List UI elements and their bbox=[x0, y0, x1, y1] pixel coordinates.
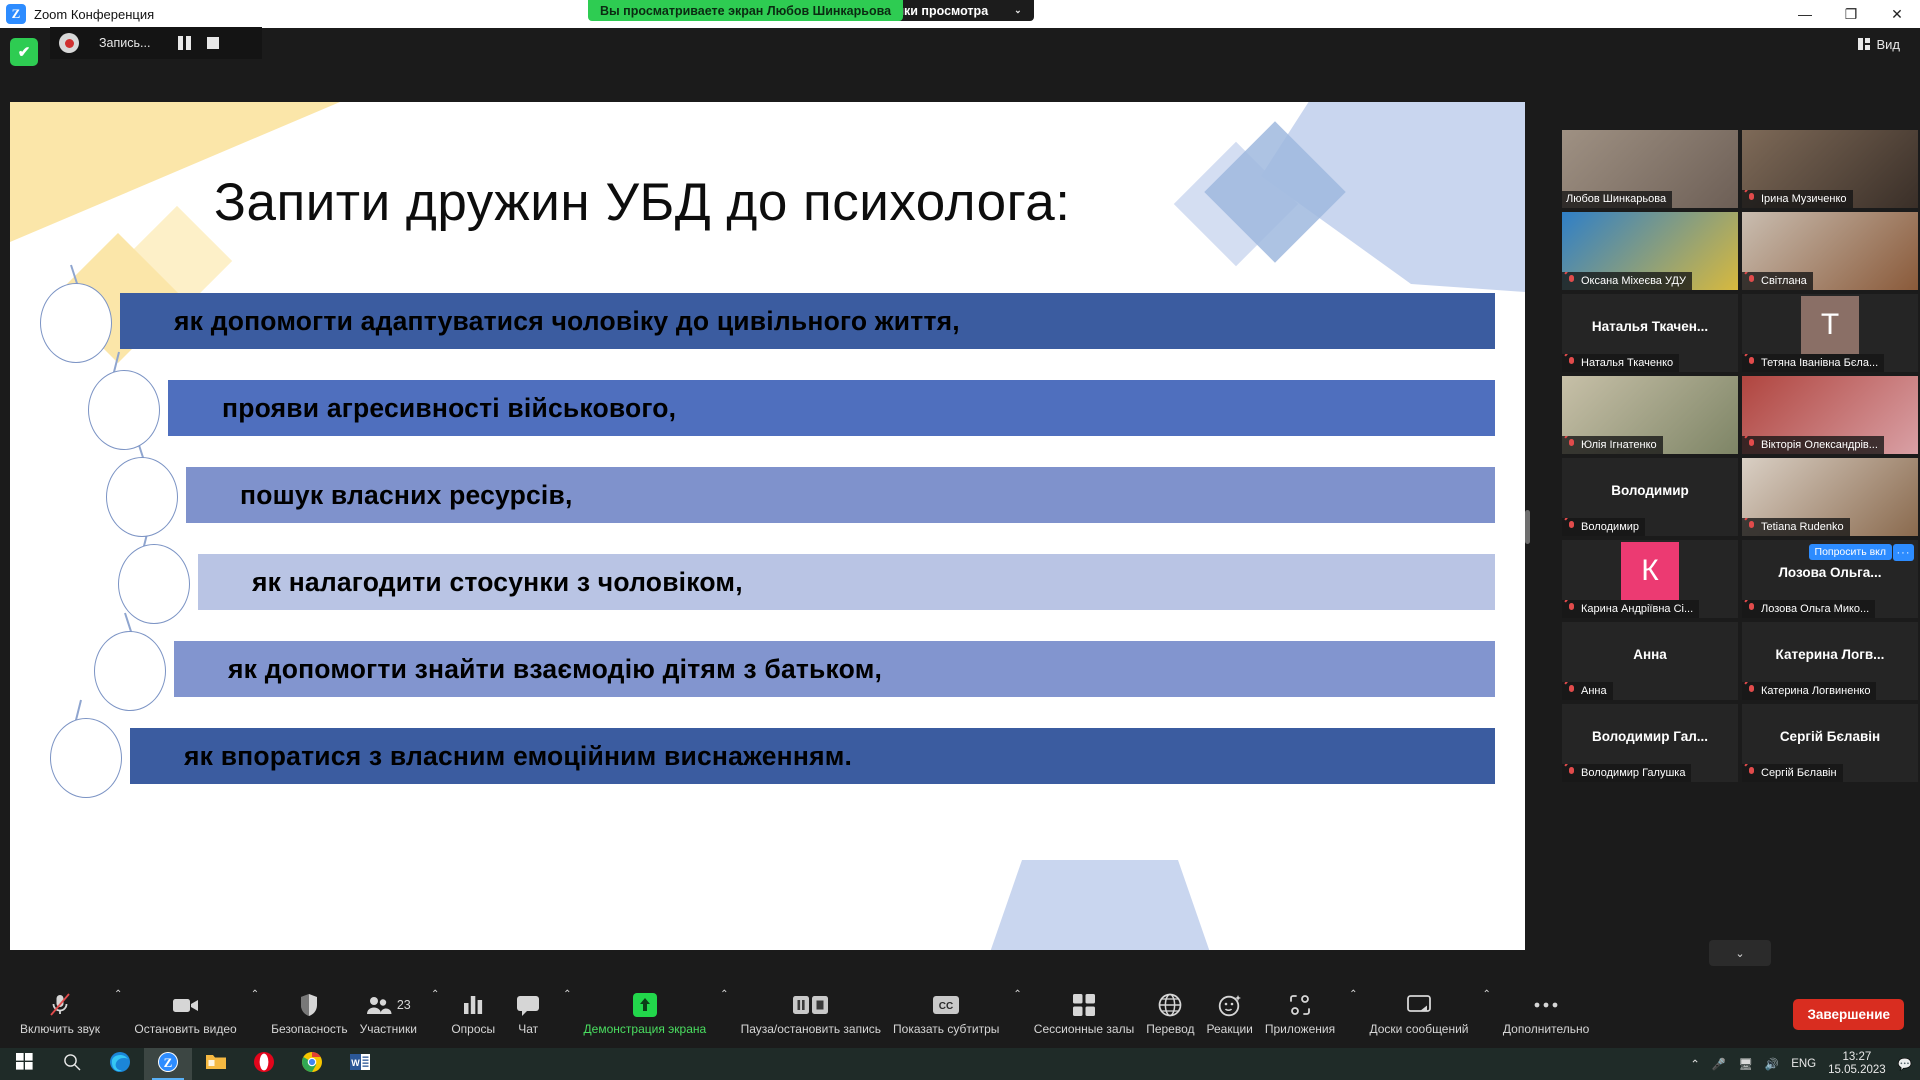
participant-name-text: Вікторія Олександрів... bbox=[1761, 439, 1878, 451]
participant-name-text: Ірина Музиченко bbox=[1761, 193, 1847, 205]
toolbar-item-group: Приложения⌃ bbox=[1259, 983, 1364, 1045]
participant-tile[interactable]: Сергій БєлавінСергій Бєлавін bbox=[1742, 704, 1918, 782]
whiteboard-icon bbox=[1407, 992, 1431, 1018]
participant-name-badge: Світлана bbox=[1742, 272, 1813, 290]
participant-name-text: Тетяна Іванівна Бєла... bbox=[1761, 357, 1878, 369]
participant-count-badge: 23 bbox=[397, 998, 411, 1012]
toolbar-button-label: Реакции bbox=[1207, 1022, 1253, 1036]
mic-muted-icon bbox=[1746, 356, 1757, 369]
view-button[interactable]: Вид bbox=[1850, 32, 1908, 56]
mic-muted-icon bbox=[1566, 356, 1577, 369]
svg-text:Z: Z bbox=[164, 1055, 173, 1070]
ask-to-unmute-button[interactable]: Попросить вкл bbox=[1809, 544, 1892, 560]
toolbar-button-label: Пауза/остановить запись bbox=[741, 1022, 881, 1036]
opera-icon bbox=[253, 1051, 275, 1078]
participant-name-badge: Сергій Бєлавін bbox=[1742, 764, 1843, 782]
toolbar-caret-icon[interactable]: ⌃ bbox=[1477, 989, 1497, 1000]
decor-blue-bottom bbox=[970, 860, 1230, 950]
participant-name-badge: Наталья Ткаченко bbox=[1562, 354, 1679, 372]
participant-name-badge: Володимир bbox=[1562, 518, 1645, 536]
toolbar-button-mic-muted[interactable]: Включить звук bbox=[14, 983, 106, 1045]
toolbar-item-group: Безопасность bbox=[265, 983, 354, 1045]
opera-button[interactable] bbox=[240, 1048, 288, 1080]
cc-icon: CC bbox=[932, 992, 960, 1018]
poll-bars-icon bbox=[462, 992, 484, 1018]
participants-panel: Любов ШинкарьоваІрина МузиченкоОксана Мі… bbox=[1560, 82, 1920, 980]
toolbar-caret-icon[interactable]: ⌃ bbox=[108, 989, 128, 1000]
participant-name-badge: Володимир Галушка bbox=[1562, 764, 1691, 782]
participant-tile[interactable]: Tetiana Rudenko bbox=[1742, 458, 1918, 536]
breakout-rooms-icon bbox=[1072, 992, 1096, 1018]
participant-tile[interactable]: Любов Шинкарьова bbox=[1562, 130, 1738, 208]
mic-muted-icon bbox=[1746, 766, 1757, 779]
toolbar-button-globe[interactable]: Перевод bbox=[1140, 983, 1200, 1045]
clock-time: 13:27 bbox=[1828, 1051, 1886, 1064]
record-dot-icon bbox=[59, 33, 79, 53]
participant-name-badge: Катерина Логвиненко bbox=[1742, 682, 1876, 700]
participant-name-badge: Анна bbox=[1562, 682, 1613, 700]
toolbar-button-shield[interactable]: Безопасность bbox=[265, 983, 354, 1045]
toolbar-item-group: Реакции bbox=[1201, 983, 1259, 1045]
participant-tile[interactable]: Оксана Міхеєва УДУ bbox=[1562, 212, 1738, 290]
toolbar-button-ellipsis[interactable]: Дополнительно bbox=[1497, 983, 1595, 1045]
chat-bubble-icon bbox=[516, 992, 540, 1018]
participant-name-text: Tetiana Rudenko bbox=[1761, 521, 1844, 533]
mic-muted-icon bbox=[1746, 520, 1757, 533]
slide-bullet-row: пошук власних ресурсів, bbox=[10, 461, 1525, 548]
participant-tile[interactable]: Світлана bbox=[1742, 212, 1918, 290]
toolbar-button-label: Чат bbox=[518, 1022, 538, 1036]
participant-name-text: Лозова Ольга Мико... bbox=[1761, 603, 1869, 615]
svg-text:CC: CC bbox=[939, 1001, 953, 1012]
participant-tile[interactable]: Вікторія Олександрів... bbox=[1742, 376, 1918, 454]
toolbar-button-label: Сессионные залы bbox=[1034, 1022, 1134, 1036]
word-button[interactable]: W bbox=[336, 1048, 384, 1080]
participant-name-text: Оксана Міхеєва УДУ bbox=[1581, 275, 1686, 287]
minimize-button[interactable]: — bbox=[1782, 0, 1828, 28]
word-icon: W bbox=[350, 1052, 370, 1077]
toolbar-button-chat-bubble[interactable]: Чат bbox=[501, 983, 555, 1045]
bullet-circle bbox=[50, 718, 122, 798]
toolbar-button-whiteboard[interactable]: Доски сообщений bbox=[1363, 983, 1474, 1045]
participant-name-text: Володимир Галушка bbox=[1581, 767, 1685, 779]
participant-tile[interactable]: Юлія Ігнатенко bbox=[1562, 376, 1738, 454]
mic-muted-icon bbox=[1566, 766, 1577, 779]
edge-button[interactable] bbox=[96, 1048, 144, 1080]
participant-name-text: Анна bbox=[1581, 685, 1607, 697]
toolbar-button-label: Остановить видео bbox=[134, 1022, 236, 1036]
toolbar-button-poll-bars[interactable]: Опросы bbox=[445, 983, 501, 1045]
chrome-button[interactable] bbox=[288, 1048, 336, 1080]
participant-tile[interactable]: ВолодимирВолодимир bbox=[1562, 458, 1738, 536]
slide-bullet-text: як допомогти адаптуватися чоловіку до ци… bbox=[174, 306, 960, 337]
participant-name-badge: Лозова Ольга Мико... bbox=[1742, 600, 1875, 618]
slide-bullet-text: прояви агресивності військового, bbox=[222, 393, 676, 424]
system-tray: ⌃ 🎤 🖥 🔊 ENG 13:27 15.05.2023 💬 bbox=[1690, 1051, 1920, 1077]
meeting-toolbar: Включить звук⌃Остановить видео⌃Безопасно… bbox=[0, 980, 1920, 1048]
toolbar-caret-icon[interactable]: ⌃ bbox=[425, 989, 445, 1000]
search-button[interactable] bbox=[48, 1048, 96, 1080]
bullet-circle bbox=[118, 544, 190, 624]
participant-name-text: Юлія Ігнатенко bbox=[1581, 439, 1657, 451]
mic-muted-icon bbox=[1746, 274, 1757, 287]
participant-tile[interactable]: ККарина Андріївна Сі... bbox=[1562, 540, 1738, 618]
toolbar-item-group: CCПоказать субтитры⌃ bbox=[887, 983, 1028, 1045]
toolbar-item-group: Сессионные залы bbox=[1028, 983, 1140, 1045]
clock-date: 15.05.2023 bbox=[1828, 1064, 1886, 1077]
start-button[interactable] bbox=[0, 1048, 48, 1080]
participant-name-text: Світлана bbox=[1761, 275, 1807, 287]
toolbar-item-group: Чат⌃ bbox=[501, 983, 577, 1045]
view-button-label: Вид bbox=[1876, 37, 1900, 52]
participant-name-badge: Карина Андріївна Сі... bbox=[1562, 600, 1699, 618]
mic-muted-icon bbox=[49, 992, 71, 1018]
bullet-circle bbox=[94, 631, 166, 711]
panel-drag-handle[interactable] bbox=[1525, 510, 1530, 544]
people-icon: 23 bbox=[366, 992, 411, 1018]
slide-bullet-text: як налагодити стосунки з чоловіком, bbox=[252, 567, 743, 598]
slide-bullet-row: як налагодити стосунки з чоловіком, bbox=[10, 548, 1525, 635]
toolbar-item-group: Опросы bbox=[445, 983, 501, 1045]
mic-muted-icon bbox=[1566, 602, 1577, 615]
mic-muted-icon bbox=[1566, 520, 1577, 533]
toolbar-button-label: Доски сообщений bbox=[1369, 1022, 1468, 1036]
window-title: Zoom Конференция bbox=[34, 7, 154, 22]
microphone-icon[interactable]: 🎤 bbox=[1712, 1057, 1726, 1071]
mic-muted-icon bbox=[1566, 274, 1577, 287]
toolbar-caret-icon[interactable]: ⌃ bbox=[1007, 989, 1027, 1000]
globe-icon bbox=[1158, 992, 1182, 1018]
bullet-circle bbox=[106, 457, 178, 537]
slide-bullet-text: пошук власних ресурсів, bbox=[240, 480, 573, 511]
toolbar-button-label: Участники bbox=[360, 1022, 417, 1036]
panel-scroll-down-button[interactable]: ⌄ bbox=[1709, 940, 1771, 966]
bullet-circle bbox=[40, 283, 112, 363]
avatar: T bbox=[1801, 296, 1859, 354]
recording-indicator: Запись... bbox=[50, 27, 262, 59]
participant-name-badge: Оксана Міхеєва УДУ bbox=[1562, 272, 1692, 290]
slide-bullet-row: як допомогти адаптуватися чоловіку до ци… bbox=[10, 287, 1525, 374]
avatar: К bbox=[1621, 542, 1679, 600]
toolbar-button-people[interactable]: 23Участники bbox=[354, 983, 423, 1045]
slide-bullet-bar: як впоратися з власним емоційним виснаже… bbox=[130, 728, 1495, 784]
maximize-button[interactable]: ❐ bbox=[1828, 0, 1874, 28]
toolbar-button-label: Включить звук bbox=[20, 1022, 100, 1036]
toolbar-button-label: Показать субтитры bbox=[893, 1022, 999, 1036]
toolbar-button-label: Приложения bbox=[1265, 1022, 1335, 1036]
mic-muted-icon bbox=[1566, 684, 1577, 697]
participant-name-badge: Ірина Музиченко bbox=[1742, 190, 1853, 208]
toolbar-button-camera[interactable]: Остановить видео bbox=[128, 983, 242, 1045]
toolbar-button-cc[interactable]: CCПоказать субтитры bbox=[887, 983, 1005, 1045]
slide-bullet-row: прояви агресивності військового, bbox=[10, 374, 1525, 461]
toolbar-button-share-screen-arrow[interactable]: Демонстрация экрана bbox=[578, 983, 713, 1045]
view-grid-icon bbox=[1858, 38, 1870, 50]
tile-more-button[interactable]: ··· bbox=[1893, 544, 1914, 561]
toolbar-button-label: Безопасность bbox=[271, 1022, 348, 1036]
svg-text:W: W bbox=[351, 1058, 360, 1068]
language-indicator[interactable]: ENG bbox=[1791, 1058, 1816, 1070]
slide-bullet-text: як допомогти знайти взаємодію дітям з ба… bbox=[228, 654, 882, 685]
participant-name-text: Володимир bbox=[1581, 521, 1639, 533]
toolbar-button-label: Перевод bbox=[1146, 1022, 1194, 1036]
pause-recording-icon[interactable] bbox=[178, 36, 191, 50]
toolbar-item-group: Включить звук⌃ bbox=[14, 983, 128, 1045]
explorer-button[interactable] bbox=[192, 1048, 240, 1080]
participant-tile[interactable]: Володимир Гал...Володимир Галушка bbox=[1562, 704, 1738, 782]
toolbar-item-group: Перевод bbox=[1140, 983, 1200, 1045]
participant-name-badge: Любов Шинкарьова bbox=[1562, 191, 1672, 208]
slide-bullet-row: як допомогти знайти взаємодію дітям з ба… bbox=[10, 635, 1525, 722]
pause-stop-icon bbox=[792, 992, 830, 1018]
toolbar-button-apps[interactable]: Приложения bbox=[1259, 983, 1341, 1045]
toolbar-button-pause-stop[interactable]: Пауза/остановить запись bbox=[735, 983, 887, 1045]
chrome-icon bbox=[301, 1051, 323, 1078]
chevron-down-icon: ⌄ bbox=[1014, 5, 1022, 16]
security-shield-icon: ✔ bbox=[10, 38, 38, 66]
toolbar-button-smiley-reaction[interactable]: Реакции bbox=[1201, 983, 1259, 1045]
participant-tile[interactable]: Ірина Музиченко bbox=[1742, 130, 1918, 208]
ellipsis-icon bbox=[1532, 992, 1560, 1018]
zoom-button[interactable]: Z bbox=[144, 1048, 192, 1080]
slide-title: Запити дружин УБД до психолога: bbox=[214, 172, 1070, 233]
toolbar-item-group: Демонстрация экрана⌃ bbox=[578, 983, 735, 1045]
stop-recording-icon[interactable] bbox=[207, 37, 219, 49]
slide-bullet-text: як впоратися з власним емоційним виснаже… bbox=[184, 741, 852, 772]
toolbar-item-group: Доски сообщений⌃ bbox=[1363, 983, 1496, 1045]
participant-tile[interactable]: Лозова Ольга...Попросить вкл···Лозова Ол… bbox=[1742, 540, 1918, 618]
meeting-top-strip bbox=[0, 28, 1920, 82]
windows-taskbar: ZW ⌃ 🎤 🖥 🔊 ENG 13:27 15.05.2023 💬 bbox=[0, 1048, 1920, 1080]
end-meeting-button[interactable]: Завершение bbox=[1793, 999, 1904, 1030]
toolbar-item-group: Остановить видео⌃ bbox=[128, 983, 265, 1045]
participant-name-text: Наталья Ткаченко bbox=[1581, 357, 1673, 369]
action-center-icon[interactable]: 💬 bbox=[1898, 1057, 1912, 1071]
slide-bullet-bar: як допомогти адаптуватися чоловіку до ци… bbox=[120, 293, 1495, 349]
windows-logo-icon bbox=[16, 1053, 33, 1075]
edge-icon bbox=[109, 1051, 131, 1078]
slide-bullet-bar: як допомогти знайти взаємодію дітям з ба… bbox=[174, 641, 1495, 697]
bullet-circle bbox=[88, 370, 160, 450]
zoom-logo-icon: Z bbox=[6, 4, 26, 24]
slide-bullet-row: як впоратися з власним емоційним виснаже… bbox=[10, 722, 1525, 809]
mic-muted-icon bbox=[1746, 438, 1757, 451]
folder-icon bbox=[205, 1052, 227, 1076]
zoom-meeting-window: Z Zoom Конференция — ❐ ✕ Вы просматривае… bbox=[0, 0, 1920, 1080]
toolbar-button-label: Опросы bbox=[451, 1022, 495, 1036]
shield-icon bbox=[299, 992, 319, 1018]
slide-bullet-list: як допомогти адаптуватися чоловіку до ци… bbox=[10, 287, 1525, 809]
tray-chevron-icon[interactable]: ⌃ bbox=[1690, 1057, 1700, 1071]
toolbar-button-breakout-rooms[interactable]: Сессионные залы bbox=[1028, 983, 1140, 1045]
participant-name-text: Любов Шинкарьова bbox=[1566, 193, 1666, 205]
slide-bullet-bar: як налагодити стосунки з чоловіком, bbox=[198, 554, 1495, 610]
participant-tile[interactable]: TТетяна Іванівна Бєла... bbox=[1742, 294, 1918, 372]
apps-icon bbox=[1288, 992, 1312, 1018]
toolbar-caret-icon[interactable]: ⌃ bbox=[245, 989, 265, 1000]
smiley-reaction-icon bbox=[1218, 992, 1242, 1018]
close-button[interactable]: ✕ bbox=[1874, 0, 1920, 28]
presentation-slide: Запити дружин УБД до психолога: як допом… bbox=[10, 102, 1525, 950]
mic-muted-icon bbox=[1746, 192, 1757, 205]
zoom-icon: Z bbox=[157, 1051, 179, 1078]
recording-label: Запись... bbox=[99, 36, 150, 50]
screen-share-banner: Вы просматриваете экран Любов Шинкарьова bbox=[588, 0, 903, 21]
slide-bullet-bar: пошук власних ресурсів, bbox=[186, 467, 1495, 523]
network-icon[interactable]: 🖥 bbox=[1738, 1057, 1753, 1071]
toolbar-item-group: Дополнительно bbox=[1497, 983, 1595, 1045]
camera-icon bbox=[172, 992, 200, 1018]
toolbar-caret-icon[interactable]: ⌃ bbox=[557, 989, 577, 1000]
toolbar-item-group: 23Участники⌃ bbox=[354, 983, 446, 1045]
toolbar-caret-icon[interactable]: ⌃ bbox=[714, 989, 734, 1000]
participant-name-badge: Тетяна Іванівна Бєла... bbox=[1742, 354, 1884, 372]
participant-name-text: Катерина Логвиненко bbox=[1761, 685, 1870, 697]
mic-muted-icon bbox=[1746, 602, 1757, 615]
shared-screen-stage: Запити дружин УБД до психолога: як допом… bbox=[0, 82, 1560, 980]
share-screen-arrow-icon bbox=[632, 992, 658, 1018]
participant-name-text: Карина Андріївна Сі... bbox=[1581, 603, 1693, 615]
volume-icon[interactable]: 🔊 bbox=[1765, 1057, 1779, 1071]
slide-bullet-bar: прояви агресивності військового, bbox=[168, 380, 1495, 436]
participant-name-badge: Tetiana Rudenko bbox=[1742, 518, 1850, 536]
toolbar-button-label: Демонстрация экрана bbox=[584, 1022, 707, 1036]
participant-tile[interactable]: Наталья Ткачен...Наталья Ткаченко bbox=[1562, 294, 1738, 372]
mic-muted-icon bbox=[1746, 684, 1757, 697]
toolbar-caret-icon[interactable]: ⌃ bbox=[1343, 989, 1363, 1000]
mic-muted-icon bbox=[1566, 438, 1577, 451]
participant-name-badge: Юлія Ігнатенко bbox=[1562, 436, 1663, 454]
participant-name-badge: Вікторія Олександрів... bbox=[1742, 436, 1884, 454]
toolbar-item-group: Пауза/остановить запись bbox=[735, 983, 887, 1045]
clock[interactable]: 13:27 15.05.2023 bbox=[1828, 1051, 1886, 1077]
participant-tile[interactable]: АннаАнна bbox=[1562, 622, 1738, 700]
participant-tile[interactable]: Катерина Логв...Катерина Логвиненко bbox=[1742, 622, 1918, 700]
search-icon bbox=[63, 1053, 81, 1076]
participant-name-text: Сергій Бєлавін bbox=[1761, 767, 1837, 779]
toolbar-button-label: Дополнительно bbox=[1503, 1022, 1589, 1036]
